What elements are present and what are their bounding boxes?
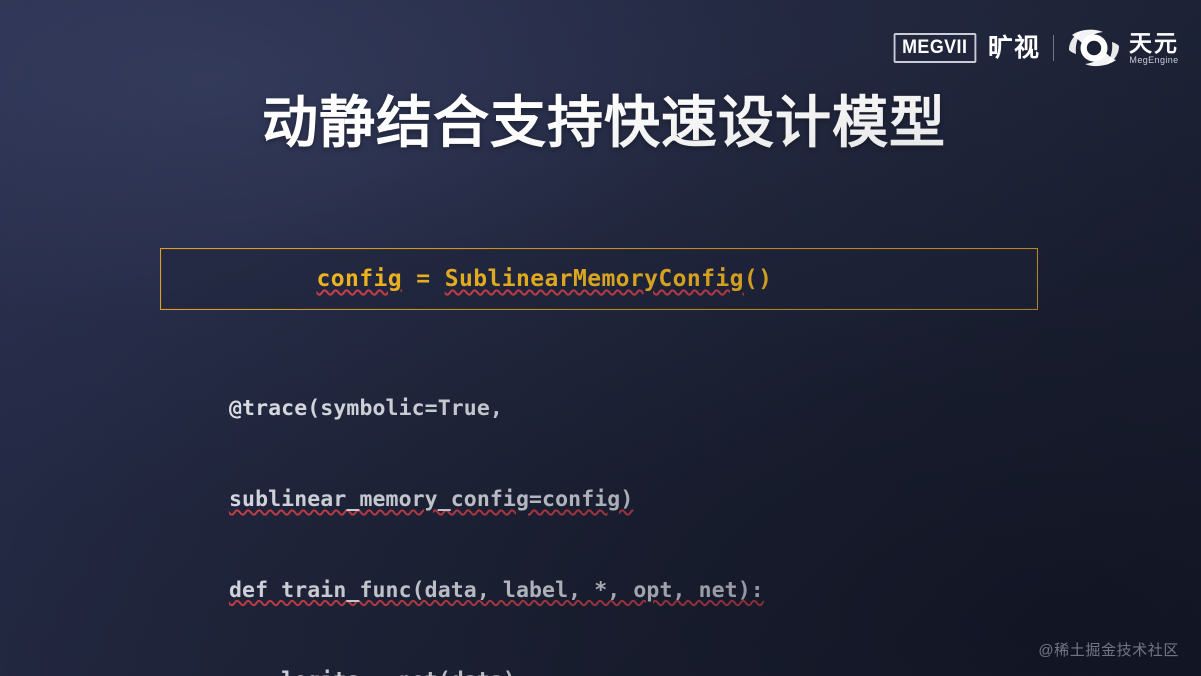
code-line-4: logits = net(data) <box>229 666 919 676</box>
callout-code-line: config = SublinearMemoryConfig() <box>231 240 772 318</box>
slide-canvas: MEGVII 旷视 天元 MegEngine 动静结合支持快速设计模型 <box>0 0 1201 676</box>
megengine-chinese-name: 天元 <box>1129 32 1179 55</box>
megvii-chinese-name: 旷视 <box>988 36 1040 61</box>
callout-token-parens: () <box>744 266 773 292</box>
callout-token-classname: SublinearMemoryConfig <box>445 266 744 292</box>
page-title: 动静结合支持快速设计模型 <box>262 92 946 155</box>
brand-divider <box>1053 35 1054 61</box>
megengine-logo: 天元 MegEngine <box>1067 26 1179 70</box>
code-line-3: def train_func(data, label, *, opt, net)… <box>229 576 919 606</box>
megvii-wordmark: MEGVII <box>894 33 976 63</box>
callout-token-config: config <box>316 266 401 292</box>
brand-bar: MEGVII 旷视 天元 MegEngine <box>891 26 1179 70</box>
megengine-english-name: MegEngine <box>1129 56 1178 65</box>
megvii-logo: MEGVII 旷视 <box>891 33 1040 63</box>
megengine-text-lockup: 天元 MegEngine <box>1129 32 1179 65</box>
code-line-1: @trace(symbolic=True, <box>229 394 919 424</box>
code-callout-box: config = SublinearMemoryConfig() <box>160 248 1038 310</box>
callout-token-equals: = <box>402 266 445 292</box>
code-block: @trace(symbolic=True, sublinear_memory_c… <box>229 334 919 676</box>
code-line-2: sublinear_memory_config=config) <box>229 485 919 515</box>
watermark: @稀土掘金技术社区 <box>1038 639 1179 660</box>
megengine-swirl-ring-icon <box>1067 26 1121 70</box>
